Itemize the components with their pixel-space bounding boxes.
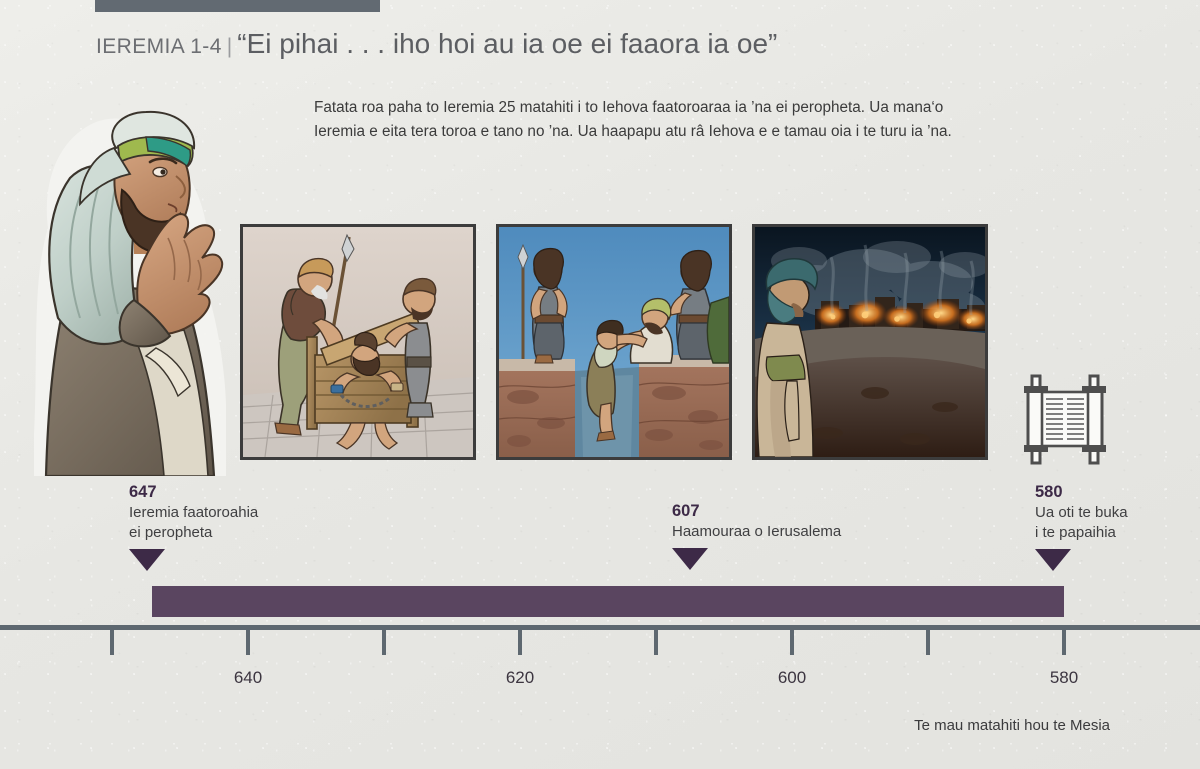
jeremiah-in-stocks-illustration	[240, 224, 476, 460]
marker-arrow-icon	[1035, 549, 1071, 571]
timeline-marker-607: 607 Haamouraa o Ierusalema	[672, 501, 841, 570]
timeline-span-bar	[152, 586, 1064, 617]
scripture-reference: IEREMIA 1-4	[96, 35, 222, 58]
intro-paragraph: Fatata roa paha to Ieremia 25 matahiti i…	[314, 96, 994, 144]
title-divider: |	[222, 35, 237, 58]
axis-caption: Te mau matahiti hou te Mesia	[0, 717, 1110, 734]
axis-tick-label: 620	[506, 668, 534, 688]
axis-tick	[246, 630, 250, 655]
marker-year: 607	[672, 501, 841, 521]
marker-year: 580	[1035, 482, 1128, 502]
page-title: IEREMIA 1-4|“Ei pihai . . . iho hoi au i…	[96, 28, 777, 60]
jeremiah-lifted-from-cistern-illustration	[496, 224, 732, 460]
jerusalem-destruction-illustration	[752, 224, 988, 460]
top-accent-bar	[95, 0, 380, 12]
marker-caption: Haamouraa o Ierusalema	[672, 522, 841, 542]
marker-arrow-icon	[129, 549, 165, 571]
title-quote: “Ei pihai . . . iho hoi au ia oe ei faao…	[237, 28, 777, 59]
jeremiah-praying-illustration	[18, 104, 268, 476]
axis-tick-label: 640	[234, 668, 262, 688]
marker-caption: Ieremia faatoroahia ei peropheta	[129, 503, 258, 543]
axis-tick	[926, 630, 930, 655]
axis-tick	[790, 630, 794, 655]
timeline-infographic-page: IEREMIA 1-4|“Ei pihai . . . iho hoi au i…	[0, 0, 1200, 769]
timeline-marker-580: 580 Ua oti te buka i te papaihia	[1035, 482, 1128, 571]
axis-tick	[518, 630, 522, 655]
axis-tick-label: 600	[778, 668, 806, 688]
timeline-marker-647: 647 Ieremia faatoroahia ei peropheta	[129, 482, 258, 571]
axis-tick-label: 580	[1050, 668, 1078, 688]
axis-tick	[1062, 630, 1066, 655]
marker-year: 647	[129, 482, 258, 502]
marker-caption: Ua oti te buka i te papaihia	[1035, 503, 1128, 543]
axis-tick	[382, 630, 386, 655]
axis-tick	[110, 630, 114, 655]
marker-arrow-icon	[672, 548, 708, 570]
axis-tick	[654, 630, 658, 655]
scroll-icon	[1022, 372, 1108, 468]
timeline-axis	[0, 625, 1200, 630]
